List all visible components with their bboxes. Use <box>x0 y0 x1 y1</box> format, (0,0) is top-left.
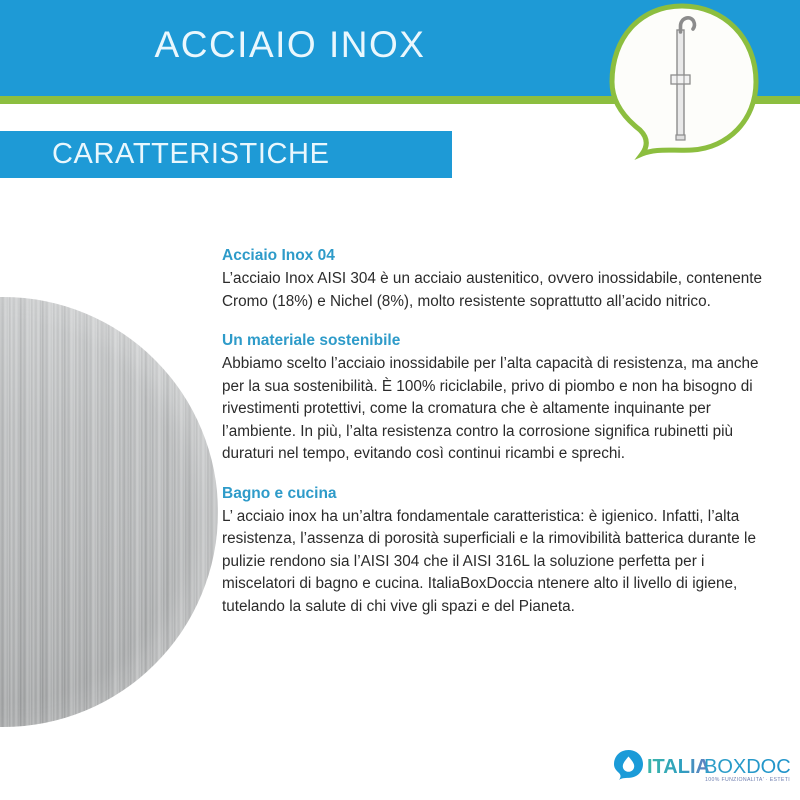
section-body: L’ acciaio inox ha un’altra fondamentale… <box>222 506 774 619</box>
section-body: L’acciaio Inox AISI 304 è un acciaio aus… <box>222 268 774 313</box>
section-banner-label: CARATTERISTICHE <box>52 138 330 171</box>
shower-column-icon <box>586 2 776 162</box>
section-block: Un materiale sostenibile Abbiamo scelto … <box>222 331 774 466</box>
water-drop-icon <box>614 750 643 780</box>
brushed-steel-circle <box>0 297 218 727</box>
page-title: ACCIAIO INOX <box>0 24 580 66</box>
section-body: Abbiamo scelto l’acciaio inossidabile pe… <box>222 353 774 466</box>
logo-word-italia: ITALIA <box>647 756 710 778</box>
logo-word-boxdoccia: BOXDOCCIA <box>704 756 790 778</box>
infographic-page: ACCIAIO INOX CARATTERISTICHE Acciaio Ino… <box>0 0 800 800</box>
section-heading: Bagno e cucina <box>222 484 774 504</box>
section-heading: Acciaio Inox 04 <box>222 246 774 266</box>
brand-logo[interactable]: ITALIA BOXDOCCIA 100% FUNZIONALITA' · ES… <box>612 747 790 787</box>
section-block: Acciaio Inox 04 L’acciaio Inox AISI 304 … <box>222 246 774 313</box>
section-block: Bagno e cucina L’ acciaio inox ha un’alt… <box>222 484 774 619</box>
content-column: Acciaio Inox 04 L’acciaio Inox AISI 304 … <box>222 246 774 618</box>
section-heading: Un materiale sostenibile <box>222 331 774 351</box>
logo-tagline: 100% FUNZIONALITA' · ESTETICA · PRATICIT… <box>705 777 790 783</box>
